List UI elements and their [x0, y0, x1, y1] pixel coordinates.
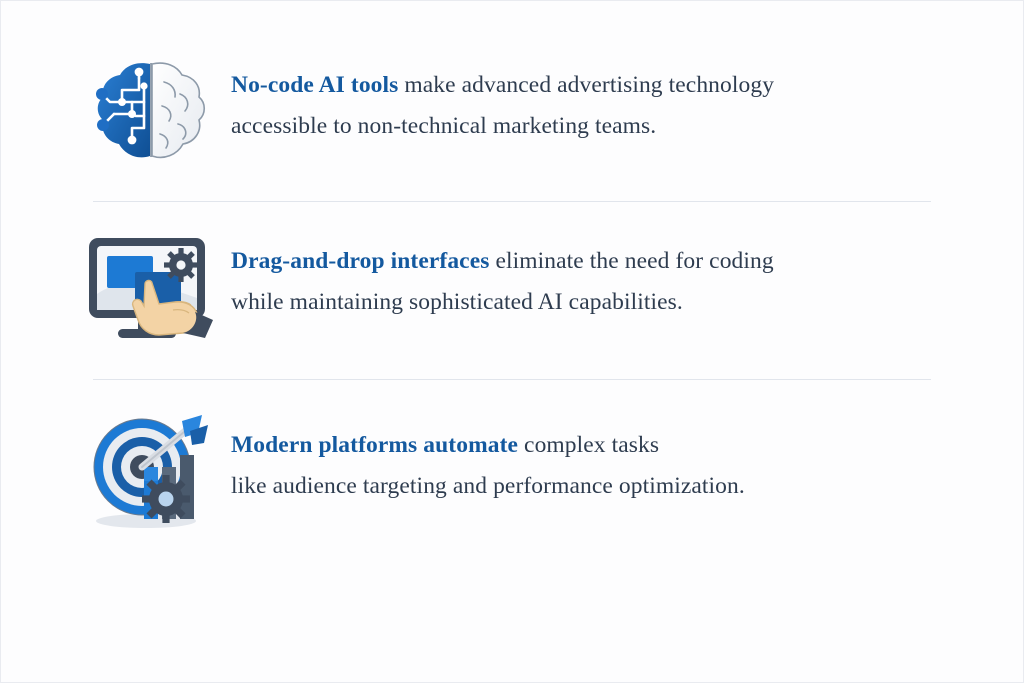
list-item-line: No-code AI tools make advanced advertisi… — [231, 65, 774, 106]
list-item: Drag-and-drop interfaces eliminate the n… — [77, 229, 957, 347]
brain-circuit-icon — [77, 53, 225, 171]
list-item-highlight: Modern platforms automate — [231, 432, 518, 458]
list-item-line: accessible to non-technical marketing te… — [231, 106, 774, 147]
target-arrow-chart-icon — [77, 413, 225, 531]
list-item-rest: while maintaining sophisticated AI capab… — [231, 289, 683, 315]
list-item-line: Modern platforms automate complex tasks — [231, 425, 745, 466]
list-item-text: Modern platforms automate complex tasks … — [225, 413, 745, 507]
list-item-rest: make advanced advertising technology — [398, 72, 774, 98]
list-item-rest: like audience targeting and performance … — [231, 473, 745, 499]
list-item-text: Drag-and-drop interfaces eliminate the n… — [225, 229, 774, 323]
divider — [93, 201, 931, 202]
list-item-rest: complex tasks — [518, 432, 659, 458]
list-item: No-code AI tools make advanced advertisi… — [77, 53, 957, 171]
list-item-highlight: Drag-and-drop interfaces — [231, 248, 489, 274]
list-item-text: No-code AI tools make advanced advertisi… — [225, 53, 774, 147]
list-item-line: like audience targeting and performance … — [231, 466, 745, 507]
monitor-drag-drop-icon — [77, 229, 225, 347]
list-item: Modern platforms automate complex tasks … — [77, 413, 957, 531]
list-item-rest: eliminate the need for coding — [489, 248, 773, 274]
list-item-highlight: No-code AI tools — [231, 72, 398, 98]
infographic-card: No-code AI tools make advanced advertisi… — [0, 0, 1024, 683]
divider — [93, 379, 931, 380]
list-item-line: while maintaining sophisticated AI capab… — [231, 282, 774, 323]
list-item-line: Drag-and-drop interfaces eliminate the n… — [231, 241, 774, 282]
list-item-rest: accessible to non-technical marketing te… — [231, 113, 656, 139]
